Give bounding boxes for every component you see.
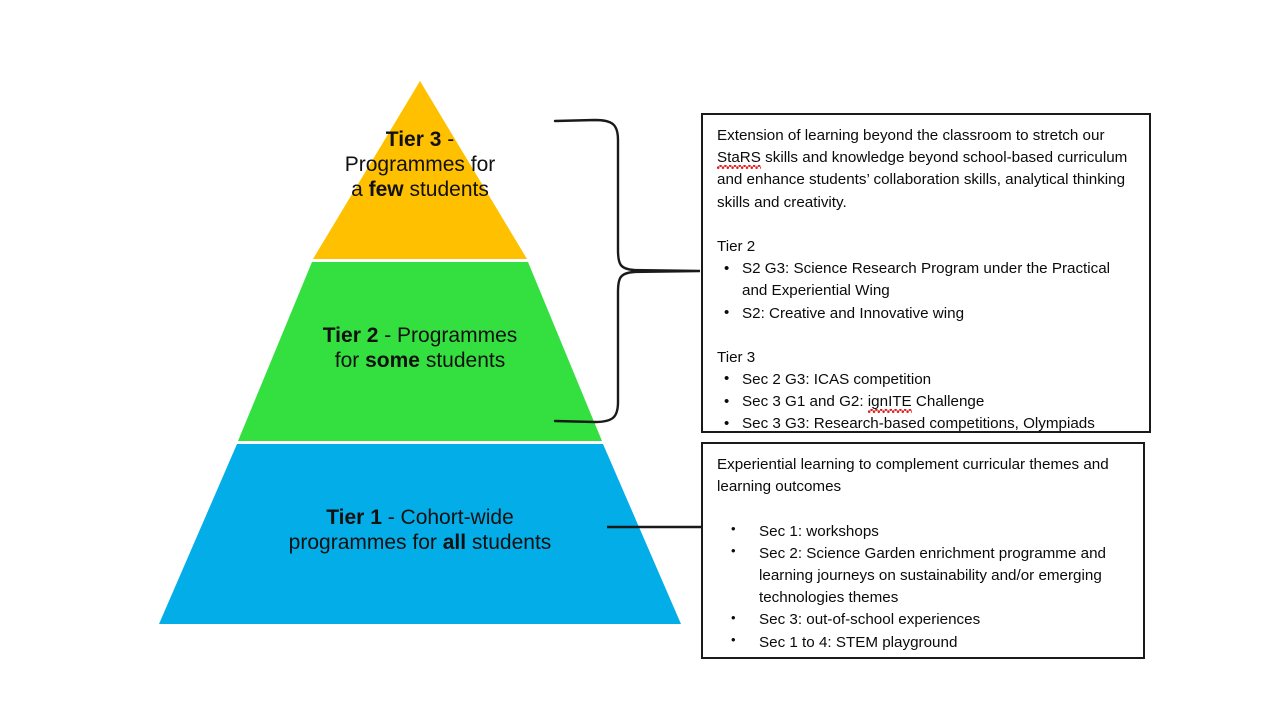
- connectors: [540, 100, 720, 560]
- pyramid-tier3-label: Tier 3 - Programmes for a few students: [262, 128, 578, 202]
- misspelled-word-stars: StaRS: [717, 149, 761, 166]
- list-item: S2: Creative and Innovative wing: [717, 303, 1137, 325]
- list-item: Sec 1 to 4: STEM playground: [717, 632, 1131, 654]
- callout-box-tier1: Experiential learning to complement curr…: [701, 442, 1145, 659]
- tier3-programme-list: Sec 2 G3: ICAS competition Sec 3 G1 and …: [717, 369, 1137, 436]
- tier1-line2-pre: programmes for: [289, 531, 443, 554]
- paragraph-spacer: [717, 498, 1131, 520]
- tier1-programme-list: Sec 1: workshops Sec 2: Science Garden e…: [717, 521, 1131, 654]
- list-item-post: Challenge: [912, 393, 985, 410]
- tier2-line2-pre: for: [335, 349, 365, 372]
- tier3-emphasis: few: [369, 178, 404, 201]
- tier1-intro-paragraph: Experiential learning to complement curr…: [717, 454, 1131, 498]
- callout-box-tier2-tier3: Extension of learning beyond the classro…: [701, 113, 1151, 433]
- tier1-title: Tier 1: [326, 506, 382, 529]
- list-item-pre: Sec 3 G1 and G2:: [742, 393, 868, 410]
- paragraph-spacer: [717, 214, 1137, 236]
- tier23-intro-part2: skills and knowledge beyond school-based…: [717, 149, 1127, 210]
- list-item: Sec 3: out-of-school experiences: [717, 609, 1131, 631]
- list-item: Sec 1: workshops: [717, 521, 1131, 543]
- tier1-line1-rest: - Cohort-wide: [382, 506, 514, 529]
- tier23-intro-paragraph: Extension of learning beyond the classro…: [717, 125, 1137, 214]
- tier2-line1-rest: - Programmes: [378, 324, 517, 347]
- paragraph-spacer: [717, 325, 1137, 347]
- list-item: Sec 2 G3: ICAS competition: [717, 369, 1137, 391]
- list-item: S2 G3: Science Research Program under th…: [717, 258, 1137, 302]
- tier23-intro-part1: Extension of learning beyond the classro…: [717, 127, 1105, 144]
- tier3-label-line3: a few students: [262, 178, 578, 203]
- tier1-emphasis: all: [443, 531, 466, 554]
- tier3-group-heading: Tier 3: [717, 347, 1137, 369]
- tier3-line3-pre: a: [351, 178, 369, 201]
- list-item: Sec 3 G1 and G2: ignITE Challenge: [717, 391, 1137, 413]
- misspelled-word-ignite: ignITE: [868, 393, 912, 410]
- list-item: Sec 2: Science Garden enrichment program…: [717, 543, 1131, 610]
- tier2-group-heading: Tier 2: [717, 236, 1137, 258]
- list-item: Sec 3 G3: Research-based competitions, O…: [717, 413, 1137, 435]
- tier2-emphasis: some: [365, 349, 420, 372]
- tier2-line2-post: students: [420, 349, 505, 372]
- curly-brace-connector: [555, 120, 700, 422]
- tier1-line2-post: students: [466, 531, 551, 554]
- diagram-canvas: Tier 3 - Programmes for a few students T…: [0, 0, 1280, 720]
- tier3-line1-rest: -: [441, 128, 454, 151]
- tier3-title: Tier 3: [386, 128, 442, 151]
- tier3-label-line1: Tier 3 -: [262, 128, 578, 153]
- tier2-programme-list: S2 G3: Science Research Program under th…: [717, 258, 1137, 325]
- tier3-line3-post: students: [404, 178, 489, 201]
- tier3-label-line2: Programmes for: [262, 153, 578, 178]
- tier2-title: Tier 2: [323, 324, 379, 347]
